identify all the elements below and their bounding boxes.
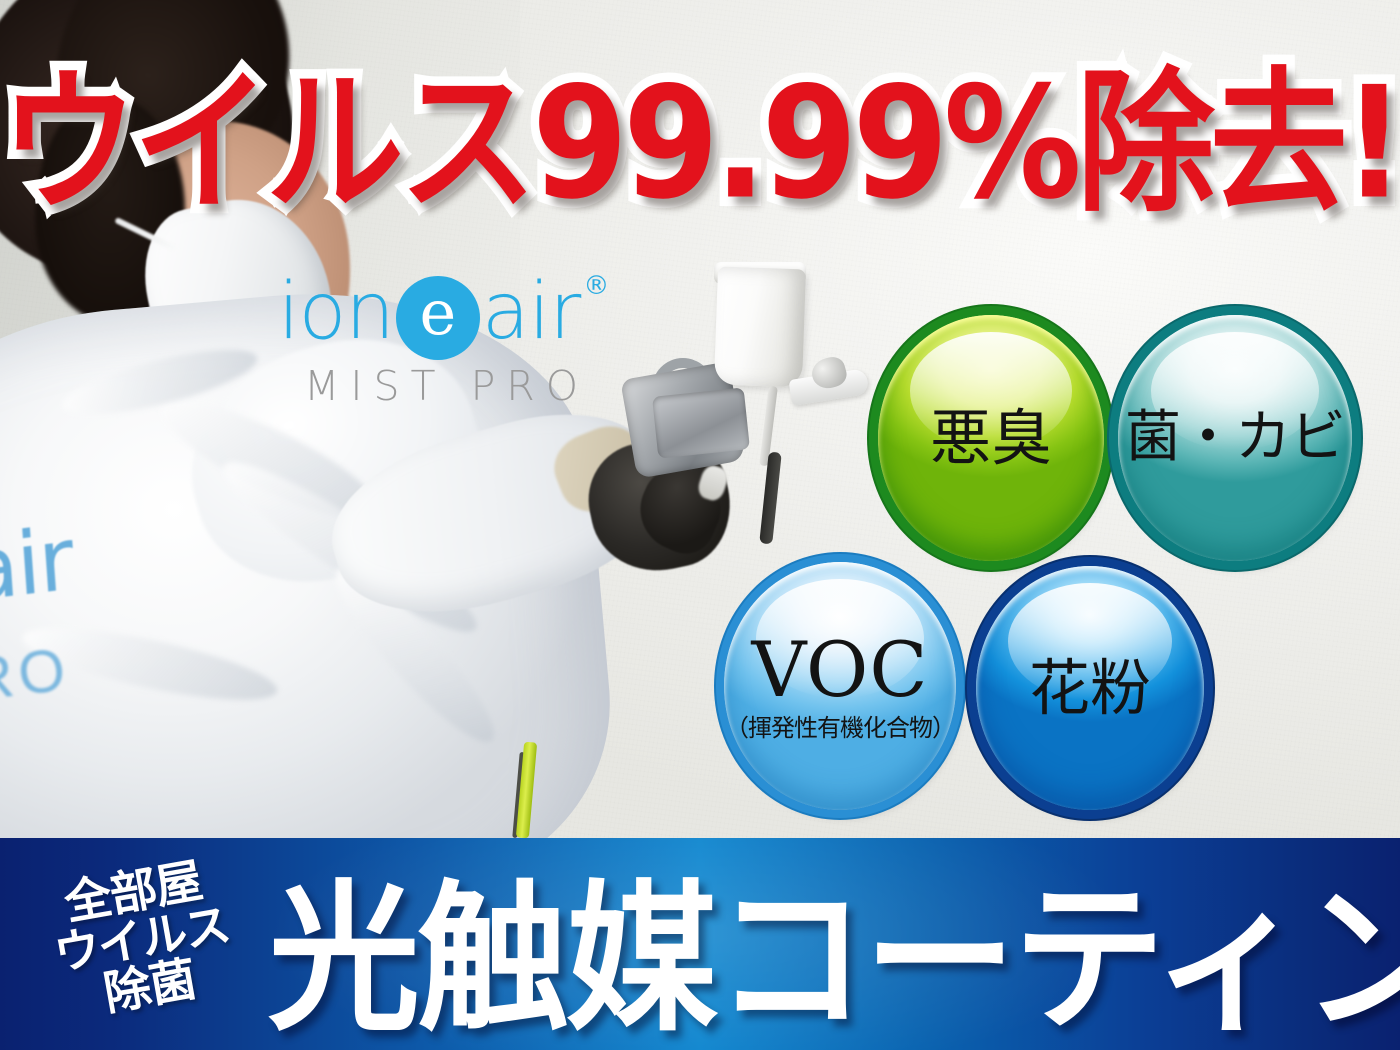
banner-title: 光触媒コーティング	[268, 846, 1388, 1043]
logo-subtitle: MIST PRO	[304, 362, 589, 410]
page-title: ウイルス99.99%除去!	[0, 50, 1400, 240]
logo-e-mark-icon: e	[396, 276, 480, 360]
logo-text-air: air	[482, 273, 581, 351]
bubble-label: 花粉	[1029, 658, 1151, 719]
feature-bubble-mold: 菌・カビ	[1118, 315, 1352, 561]
suit-print-air: air	[0, 510, 75, 623]
feature-bubble-voc: VOC （揮発性有機化合物）	[724, 562, 956, 810]
feature-bubble-odor: 悪臭	[878, 315, 1104, 561]
suit-print-pro: RO	[0, 634, 74, 715]
bubble-label: 菌・カビ	[1125, 410, 1345, 466]
bubble-label: VOC	[751, 632, 928, 708]
ioneair-logo: ion e air ® MIST PRO	[278, 262, 658, 422]
status-badge: 全部屋 ウイルス 除菌	[36, 853, 251, 1044]
spray-gun-valve	[652, 387, 750, 458]
spray-gun-cup	[714, 267, 806, 388]
bubble-sublabel: （揮発性有機化合物）	[725, 716, 955, 740]
promo-banner-image: air RO ion e air ® MIST PRO ウイルス99.99%除去…	[0, 0, 1400, 1050]
bubble-label: 悪臭	[930, 408, 1052, 469]
logo-text-ion: ion	[278, 273, 394, 351]
logo-e-glyph: e	[419, 282, 456, 344]
feature-bubble-pollen: 花粉	[976, 566, 1204, 810]
registered-trademark-icon: ®	[583, 271, 609, 301]
logo-wordmark: ion e air ®	[278, 262, 658, 362]
